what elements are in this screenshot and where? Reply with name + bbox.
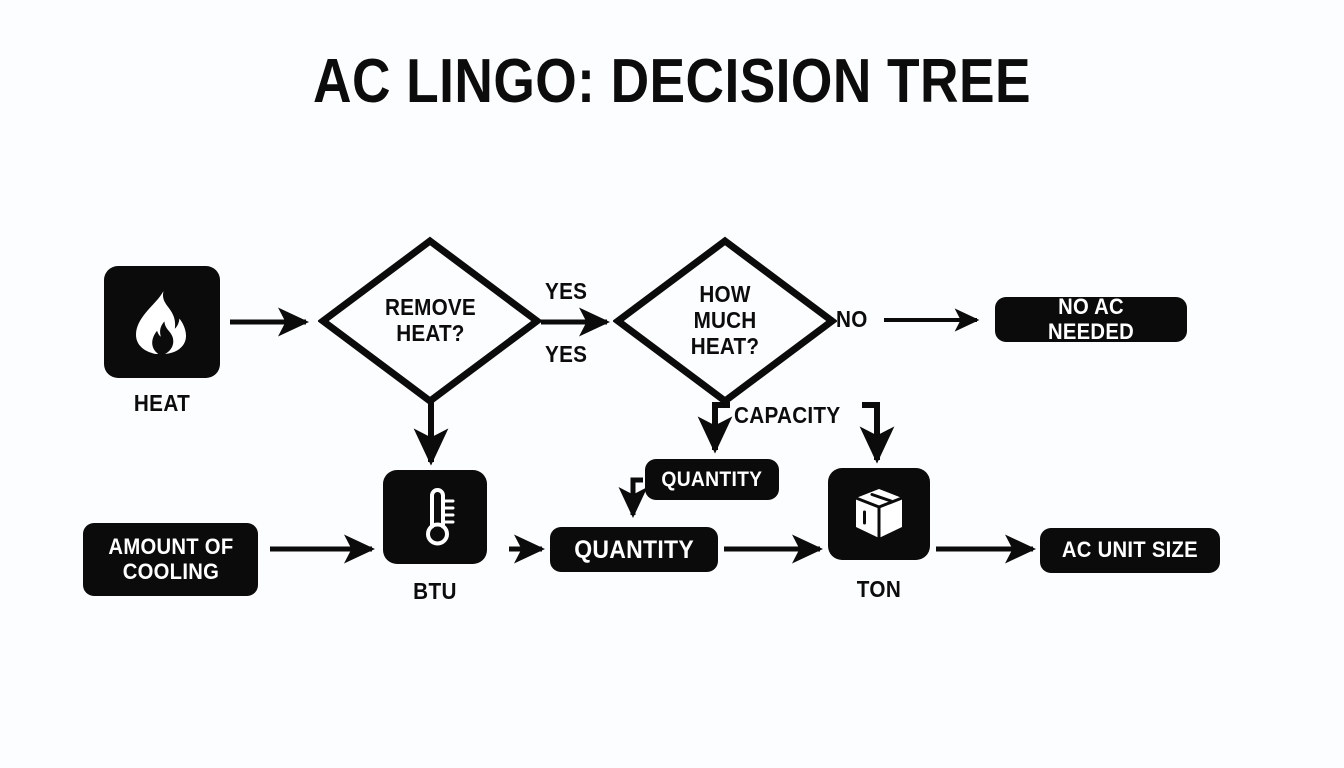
heat-icon-box bbox=[104, 266, 220, 378]
arrow-capacity-to-ton bbox=[862, 405, 877, 460]
decision-tree-diagram: AC LINGO: DECISION TREE bbox=[0, 0, 1344, 768]
arrow-capacity-to-quantity-upper bbox=[715, 405, 730, 450]
badge-amount-of-cooling[interactable]: AMOUNT OF COOLING bbox=[83, 523, 258, 596]
decision-remove-heat-label: REMOVE HEAT? bbox=[318, 236, 542, 406]
decision-remove-heat[interactable]: REMOVE HEAT? bbox=[318, 236, 542, 406]
box-cube-icon bbox=[853, 487, 905, 541]
thermometer-icon bbox=[414, 486, 456, 548]
page-title: AC LINGO: DECISION TREE bbox=[94, 48, 1250, 116]
decision-how-much-heat-label: HOW MUCH HEAT? bbox=[613, 236, 837, 406]
btu-icon-box bbox=[383, 470, 487, 564]
heat-icon-caption: HEAT bbox=[110, 390, 214, 417]
badge-ac-unit-size[interactable]: AC UNIT SIZE bbox=[1040, 528, 1220, 573]
flame-icon bbox=[133, 290, 191, 354]
decision-how-much-heat[interactable]: HOW MUCH HEAT? bbox=[613, 236, 837, 406]
btu-icon-caption: BTU bbox=[388, 578, 482, 605]
ton-icon-box bbox=[828, 468, 930, 560]
edge-label-yes-lower: YES bbox=[545, 341, 587, 368]
edge-label-capacity: CAPACITY bbox=[734, 402, 840, 429]
edge-label-yes-upper: YES bbox=[545, 278, 587, 305]
badge-quantity-upper[interactable]: QUANTITY bbox=[645, 459, 779, 500]
ton-icon-caption: TON bbox=[833, 576, 925, 603]
badge-no-ac-needed[interactable]: NO AC NEEDED bbox=[995, 297, 1187, 342]
edge-label-no: NO bbox=[836, 306, 868, 333]
arrow-quantity-upper-to-quantity-lower bbox=[633, 480, 643, 515]
badge-quantity-lower[interactable]: QUANTITY bbox=[550, 527, 718, 572]
